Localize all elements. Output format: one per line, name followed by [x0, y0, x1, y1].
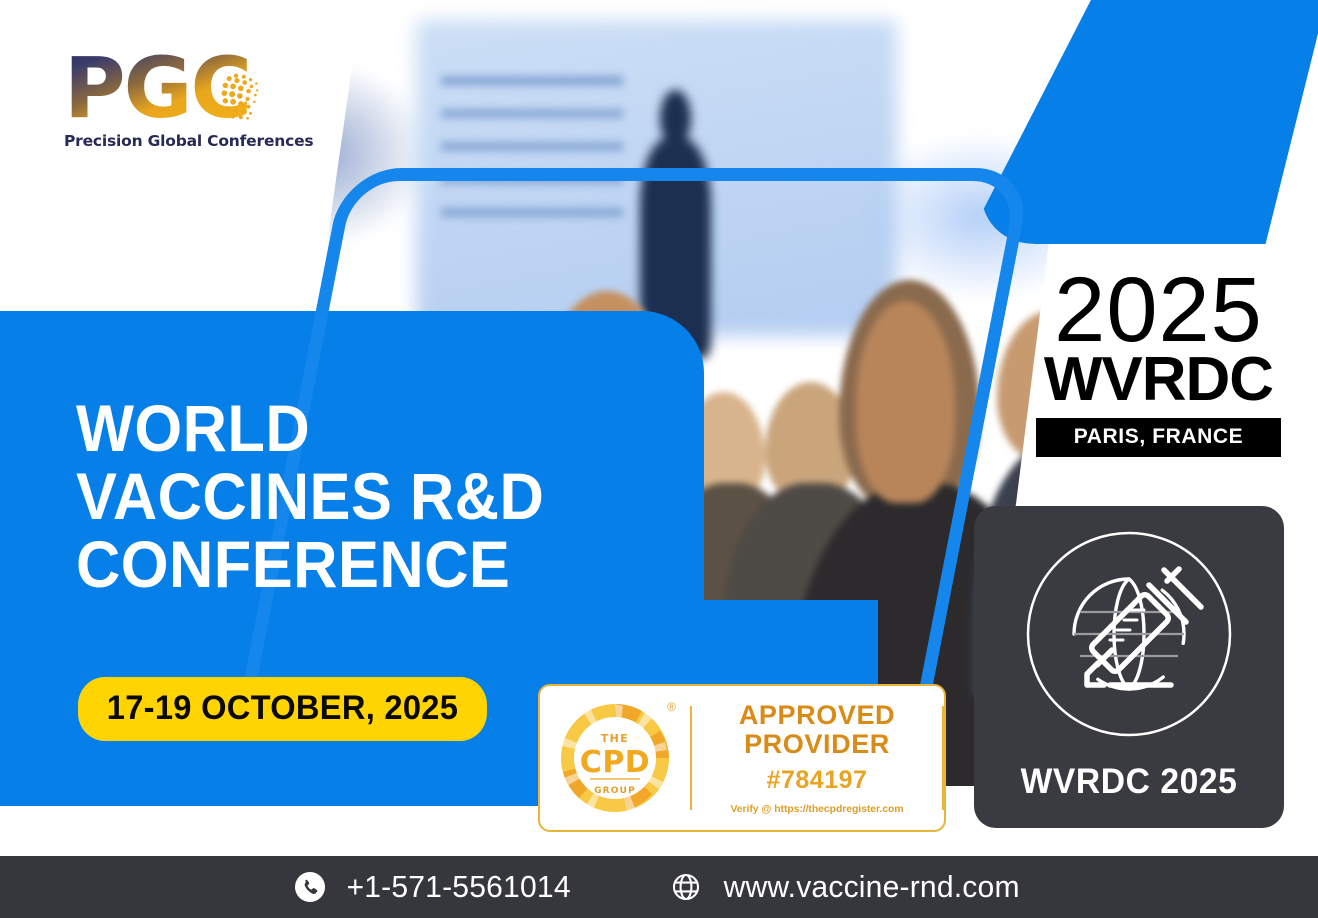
event-icon-card-label: WVRDC 2025 — [980, 762, 1278, 802]
pgc-logo[interactable]: PGC Precision Global Conferences — [64, 46, 294, 150]
cpd-accreditation-badge[interactable]: THE CPD GROUP ® APPROVED PROVIDER #78419… — [538, 684, 946, 832]
event-title: WORLD VACCINES R&D CONFERENCE — [76, 395, 696, 599]
cpd-divider-right — [942, 706, 944, 810]
footer-website[interactable]: www.vaccine-rnd.com — [670, 869, 1024, 905]
svg-text:GROUP: GROUP — [594, 786, 636, 796]
contact-footer: +1-571-5561014 www.vaccine-rnd.com — [0, 856, 1318, 918]
registered-trademark-icon: ® — [667, 700, 676, 714]
event-title-line-2: VACCINES R&D — [76, 463, 653, 531]
svg-text:CPD: CPD — [580, 745, 650, 780]
footer-website-url: www.vaccine-rnd.com — [724, 869, 1020, 905]
svg-text:THE: THE — [601, 732, 629, 745]
dotted-globe-icon — [207, 68, 265, 126]
event-title-line-1: WORLD — [76, 395, 653, 463]
event-mark: 2025 WVRDC PARIS, FRANCE — [1036, 268, 1281, 457]
cpd-seal: THE CPD GROUP ® — [540, 686, 690, 830]
event-icon-card: WVRDC 2025 — [974, 506, 1284, 828]
globe-icon — [670, 871, 702, 903]
cpd-approved-line-2: PROVIDER — [702, 730, 932, 759]
cpd-approved-line-1: APPROVED — [702, 701, 932, 730]
footer-phone[interactable]: +1-571-5561014 — [294, 869, 574, 905]
phone-icon — [294, 871, 326, 903]
event-date-badge: 17-19 OCTOBER, 2025 — [78, 677, 487, 741]
cpd-verify-url[interactable]: Verify @ https://thecpdregister.com — [702, 803, 932, 815]
globe-syringe-icon — [1014, 522, 1244, 752]
cpd-details: APPROVED PROVIDER #784197 Verify @ https… — [692, 701, 942, 814]
cpd-sunburst-seal-icon: THE CPD GROUP — [555, 698, 675, 818]
event-location: PARIS, FRANCE — [1036, 418, 1281, 457]
cpd-reference-number: #784197 — [702, 766, 932, 795]
event-title-line-3: CONFERENCE — [76, 531, 653, 599]
event-year: 2025 — [1036, 268, 1281, 353]
conference-banner: PGC Precision Global Conferences WORLD V… — [0, 0, 1318, 918]
event-acronym: WVRDC — [1036, 349, 1281, 411]
footer-phone-number: +1-571-5561014 — [346, 869, 570, 905]
